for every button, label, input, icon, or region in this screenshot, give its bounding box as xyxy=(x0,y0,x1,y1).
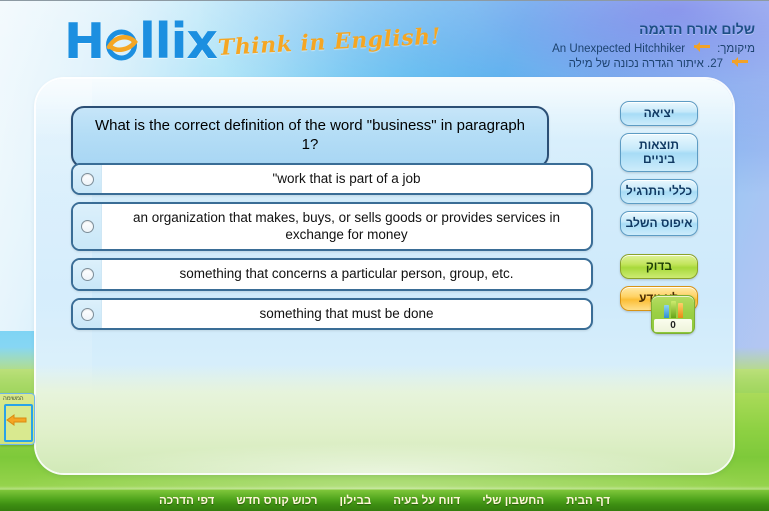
logo-swirl-icon xyxy=(105,28,138,61)
answer-radio-cell-1[interactable] xyxy=(73,165,102,193)
answer-option-label-1: "work that is part of a job xyxy=(102,165,591,193)
question-box: What is the correct definition of the wo… xyxy=(71,106,549,168)
answer-option-label-3: something that concerns a particular per… xyxy=(102,260,591,288)
footer-link-home[interactable]: דף הבית xyxy=(566,495,610,507)
answer-option-2[interactable]: an organization that makes, buys, or sel… xyxy=(71,202,593,251)
exit-button[interactable]: יציאה xyxy=(620,101,698,126)
bar-chart-icon xyxy=(654,298,692,318)
answer-option-1[interactable]: "work that is part of a job xyxy=(71,163,593,195)
bar-chart-bar-green xyxy=(671,301,676,318)
logo-letter-h: H xyxy=(64,13,104,70)
location-value: An Unexpected Hitchhiker xyxy=(552,43,685,55)
reset-stage-button[interactable]: איפוס השלב xyxy=(620,211,698,236)
answer-radio-cell-4[interactable] xyxy=(73,300,102,328)
radio-button-icon-2[interactable] xyxy=(81,220,94,233)
application-window: Hllix Think in English! שלום אורח הדגמה … xyxy=(0,0,769,511)
arrow-separator-icon xyxy=(690,42,712,51)
answer-option-3[interactable]: something that concerns a particular per… xyxy=(71,258,593,290)
radio-button-icon-4[interactable] xyxy=(81,308,94,321)
left-arrow-icon xyxy=(6,414,27,426)
radio-button-icon-3[interactable] xyxy=(81,268,94,281)
footer-link-my-account[interactable]: החשבון שלי xyxy=(482,495,544,507)
answer-option-label-4: something that must be done xyxy=(102,300,591,328)
answer-option-4[interactable]: something that must be done xyxy=(71,298,593,330)
footer-link-buy-course[interactable]: רכוש קורס חדש xyxy=(236,495,317,507)
answer-option-label-2: an organization that makes, buys, or sel… xyxy=(102,204,591,249)
logo-letters-llix: llix xyxy=(139,13,217,70)
check-button[interactable]: בדוק xyxy=(620,254,698,279)
interim-results-button[interactable]: תוצאות ביניים xyxy=(620,133,698,172)
footer-link-babylon[interactable]: בבילון xyxy=(339,495,371,507)
exercise-title: 27. איתור הגדרה נכונה של מילה xyxy=(569,58,723,70)
bar-chart-bar-orange xyxy=(678,303,683,318)
task-pull-tab-label: המשימה xyxy=(3,396,23,402)
panel-bottom-landscape xyxy=(36,365,733,473)
score-widget[interactable]: 0 xyxy=(651,295,695,334)
answer-radio-cell-2[interactable] xyxy=(73,204,102,249)
answer-options-list: "work that is part of a job an organizat… xyxy=(71,163,593,337)
user-greeting: שלום אורח הדגמה xyxy=(425,21,755,37)
brand-logo[interactable]: Hllix xyxy=(64,17,217,66)
exercise-rules-button[interactable]: כללי התרגיל xyxy=(620,179,698,204)
exercise-title-row: 27. איתור הגדרה נכונה של מילה xyxy=(355,57,755,70)
task-pull-tab[interactable]: המשימה xyxy=(0,393,35,445)
arrow-separator-icon-2 xyxy=(728,57,750,66)
footer-nav: דף הבית החשבון שלי דווח על בעיה בבילון ר… xyxy=(0,489,769,511)
score-value: 0 xyxy=(654,319,692,332)
footer-link-report[interactable]: דווח על בעיה xyxy=(393,495,460,507)
answer-radio-cell-3[interactable] xyxy=(73,260,102,288)
footer-link-guides[interactable]: דפי הדרכה xyxy=(159,495,214,507)
radio-button-icon-1[interactable] xyxy=(81,173,94,186)
side-button-group: יציאה תוצאות ביניים כללי התרגיל איפוס הש… xyxy=(620,101,698,318)
location-label: מיקומך: xyxy=(717,43,755,55)
location-row: מיקומך:An Unexpected Hitchhiker xyxy=(355,42,755,55)
bar-chart-bar-blue xyxy=(664,305,669,318)
